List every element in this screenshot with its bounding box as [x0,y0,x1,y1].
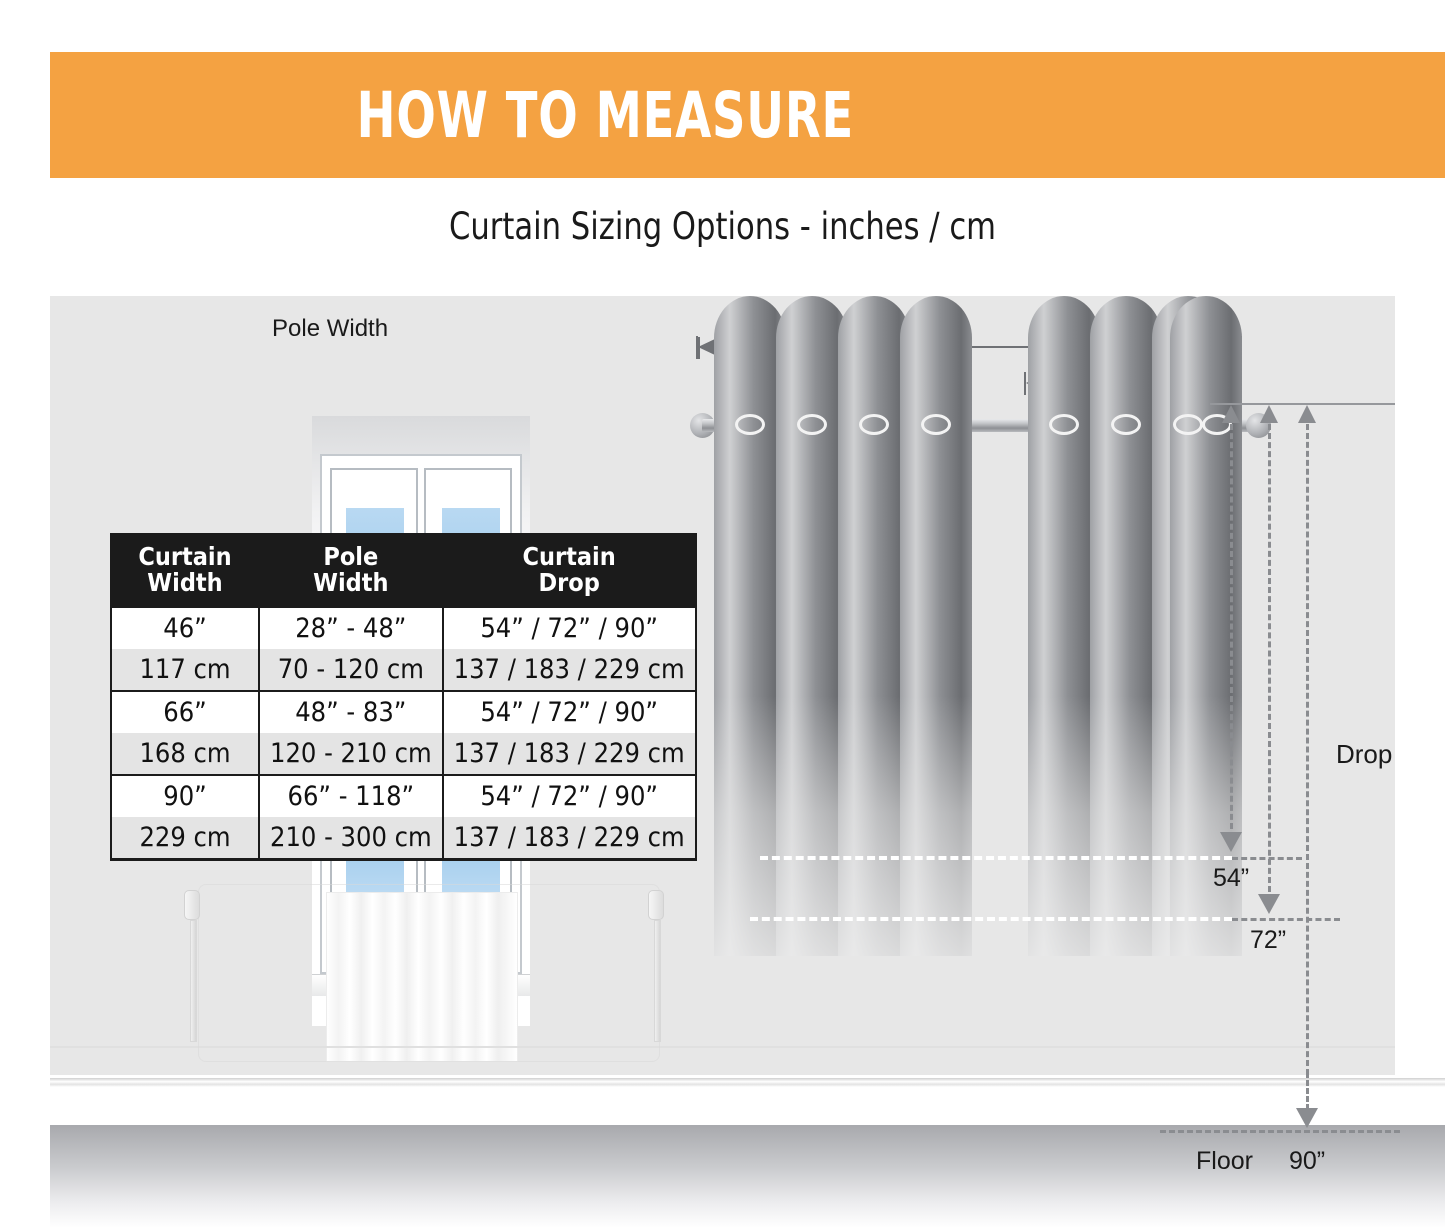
curtain-eyelet-l1 [735,414,765,435]
width-tick-left [1024,372,1026,395]
curtain-sizing-table: Curtain Width Pole Width Curtain Drop 46… [110,533,697,861]
column-header-pole-width: Pole Width [259,534,443,607]
table-row: 229 cm 210 - 300 cm 137 / 183 / 229 cm [111,817,696,860]
floor-surface [50,1125,1445,1228]
cell-pole-width: 210 - 300 cm [259,817,443,860]
radiator-outline [198,884,660,1062]
drop-90-dashed-vertical [1306,424,1309,1075]
column-header-curtain-width: Curtain Width [111,534,259,607]
column-header-curtain-drop: Curtain Drop [443,534,696,607]
pole-width-label: Pole Width [272,315,388,343]
cell-curtain-width: 229 cm [111,817,259,860]
drop-54-arrow-up [1222,405,1240,423]
drop-54-line-gray [1232,857,1302,860]
floor-line-dashed [1160,1130,1400,1133]
table-row: 117 cm 70 - 120 cm 137 / 183 / 229 cm [111,649,696,691]
page-title: HOW TO MEASURE [356,79,853,152]
drop-54-line-white [760,856,1232,860]
drop-72-line-white [750,917,1232,921]
drop-90-arrow-up [1298,405,1316,423]
drop-90-dashed-vertical-lower [1306,1072,1309,1110]
radiator-valve-left [184,890,200,920]
drop-54-label: 54” [1213,864,1249,893]
curtain-eyelet-l2 [797,414,827,435]
cell-pole-width: 28” - 48” [259,607,443,649]
cell-curtain-width: 117 cm [111,649,259,691]
drop-90-arrow-down [1296,1108,1318,1128]
cell-curtain-drop: 137 / 183 / 229 cm [443,649,696,691]
table-row: 90” 66” - 118” 54” / 72” / 90” [111,775,696,817]
cell-pole-width: 48” - 83” [259,691,443,733]
skirting-board [50,1078,1445,1087]
cell-curtain-width: 90” [111,775,259,817]
drop-54-dashed-vertical [1230,424,1233,829]
header-line-2: Width [118,570,252,596]
header-banner: HOW TO MEASURE [50,52,1445,178]
cell-curtain-drop: 54” / 72” / 90” [443,775,696,817]
drop-72-arrow-up [1260,405,1278,423]
table-header-row: Curtain Width Pole Width Curtain Drop [111,534,696,607]
curtain-eyelet-r3 [1173,414,1203,435]
curtain-eyelet-l3 [859,414,889,435]
cell-curtain-drop: 137 / 183 / 229 cm [443,733,696,775]
drop-90-label: 90” [1289,1147,1325,1176]
header-line-2: Width [266,570,436,596]
cell-curtain-width: 46” [111,607,259,649]
header-line-1: Pole [266,544,436,570]
drop-label: Drop [1336,739,1392,770]
cell-pole-width: 120 - 210 cm [259,733,443,775]
radiator-pipe-left [190,920,197,1042]
cell-pole-width: 66” - 118” [259,775,443,817]
drop-72-line-gray [1232,918,1340,921]
table-row: 46” 28” - 48” 54” / 72” / 90” [111,607,696,649]
curtain-eyelet-l4 [921,414,951,435]
cell-curtain-width: 168 cm [111,733,259,775]
pole-width-tick-left [696,336,698,359]
header-line-1: Curtain [118,544,252,570]
cell-curtain-drop: 54” / 72” / 90” [443,691,696,733]
table-row: 168 cm 120 - 210 cm 137 / 183 / 229 cm [111,733,696,775]
header-line-1: Curtain [450,544,689,570]
cell-curtain-width: 66” [111,691,259,733]
radiator-pipe-right [654,920,661,1042]
table-row: 66” 48” - 83” 54” / 72” / 90” [111,691,696,733]
radiator-valve-right [648,890,664,920]
drop-72-arrow-down [1258,894,1280,914]
header-line-2: Drop [450,570,689,596]
cell-pole-width: 70 - 120 cm [259,649,443,691]
drop-54-arrow-down [1220,832,1242,852]
drop-72-label: 72” [1250,926,1286,955]
cell-curtain-drop: 54” / 72” / 90” [443,607,696,649]
floor-label: Floor [1196,1147,1253,1176]
curtain-eyelet-r2 [1111,414,1141,435]
page-subtitle: Curtain Sizing Options - inches / cm [58,205,1387,248]
curtain-eyelet-r1 [1049,414,1079,435]
cell-curtain-drop: 137 / 183 / 229 cm [443,817,696,860]
drop-72-dashed-vertical [1268,424,1271,892]
